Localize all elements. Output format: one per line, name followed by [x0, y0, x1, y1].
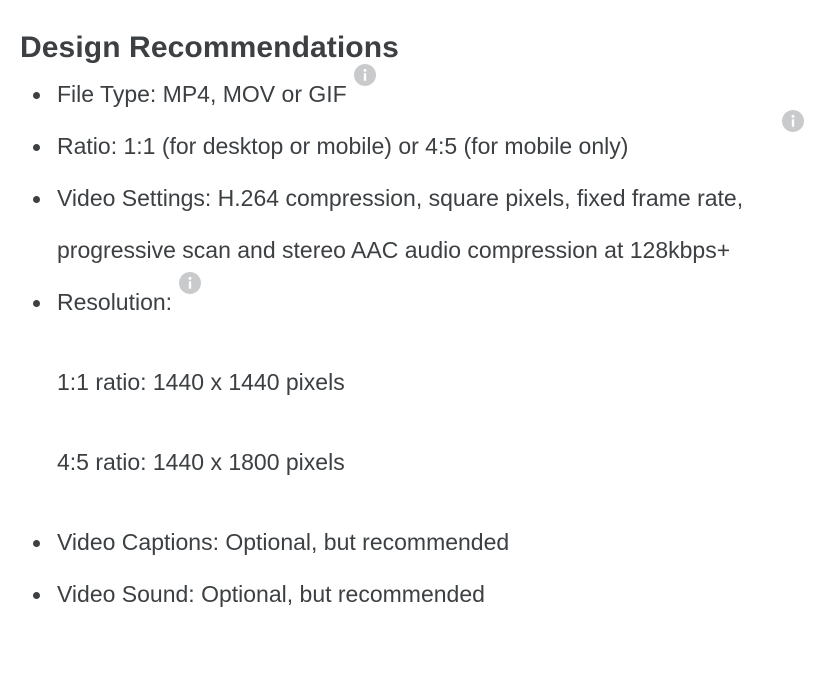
recommendation-item-file-type: File Type: MP4, MOV or GIF: [0, 68, 818, 120]
recommendation-item-video-sound: Video Sound: Optional, but recommended: [0, 568, 818, 620]
recommendation-item-ratio: Ratio: 1:1 (for desktop or mobile) or 4:…: [0, 120, 818, 172]
recommendation-item-resolution-4-5: 4:5 ratio: 1440 x 1800 pixels: [0, 436, 818, 488]
recommendation-text: Video Sound: Optional, but recommended: [57, 581, 485, 607]
recommendation-text: File Type: MP4, MOV or GIF: [57, 81, 347, 107]
info-icon[interactable]: [354, 64, 376, 86]
recommendation-text: Ratio: 1:1 (for desktop or mobile) or 4:…: [57, 133, 628, 159]
recommendation-item-resolution-1-1: 1:1 ratio: 1440 x 1440 pixels: [0, 356, 818, 408]
recommendation-text: 1:1 ratio: 1440 x 1440 pixels: [57, 369, 345, 395]
recommendation-text: Video Settings: H.264 compression, squar…: [57, 185, 743, 263]
recommendation-item-resolution: Resolution:: [0, 276, 818, 328]
recommendation-text: Resolution:: [57, 289, 172, 315]
recommendation-text: 4:5 ratio: 1440 x 1800 pixels: [57, 449, 345, 475]
recommendation-text: Video Captions: Optional, but recommende…: [57, 529, 509, 555]
info-icon[interactable]: [782, 110, 804, 132]
recommendations-list: File Type: MP4, MOV or GIFRatio: 1:1 (fo…: [0, 68, 818, 620]
recommendation-item-video-captions: Video Captions: Optional, but recommende…: [0, 516, 818, 568]
page-title: Design Recommendations: [20, 28, 399, 68]
recommendation-item-video-settings: Video Settings: H.264 compression, squar…: [0, 172, 818, 276]
design-recommendations-page: Design Recommendations File Type: MP4, M…: [0, 0, 818, 685]
info-icon[interactable]: [179, 272, 201, 294]
